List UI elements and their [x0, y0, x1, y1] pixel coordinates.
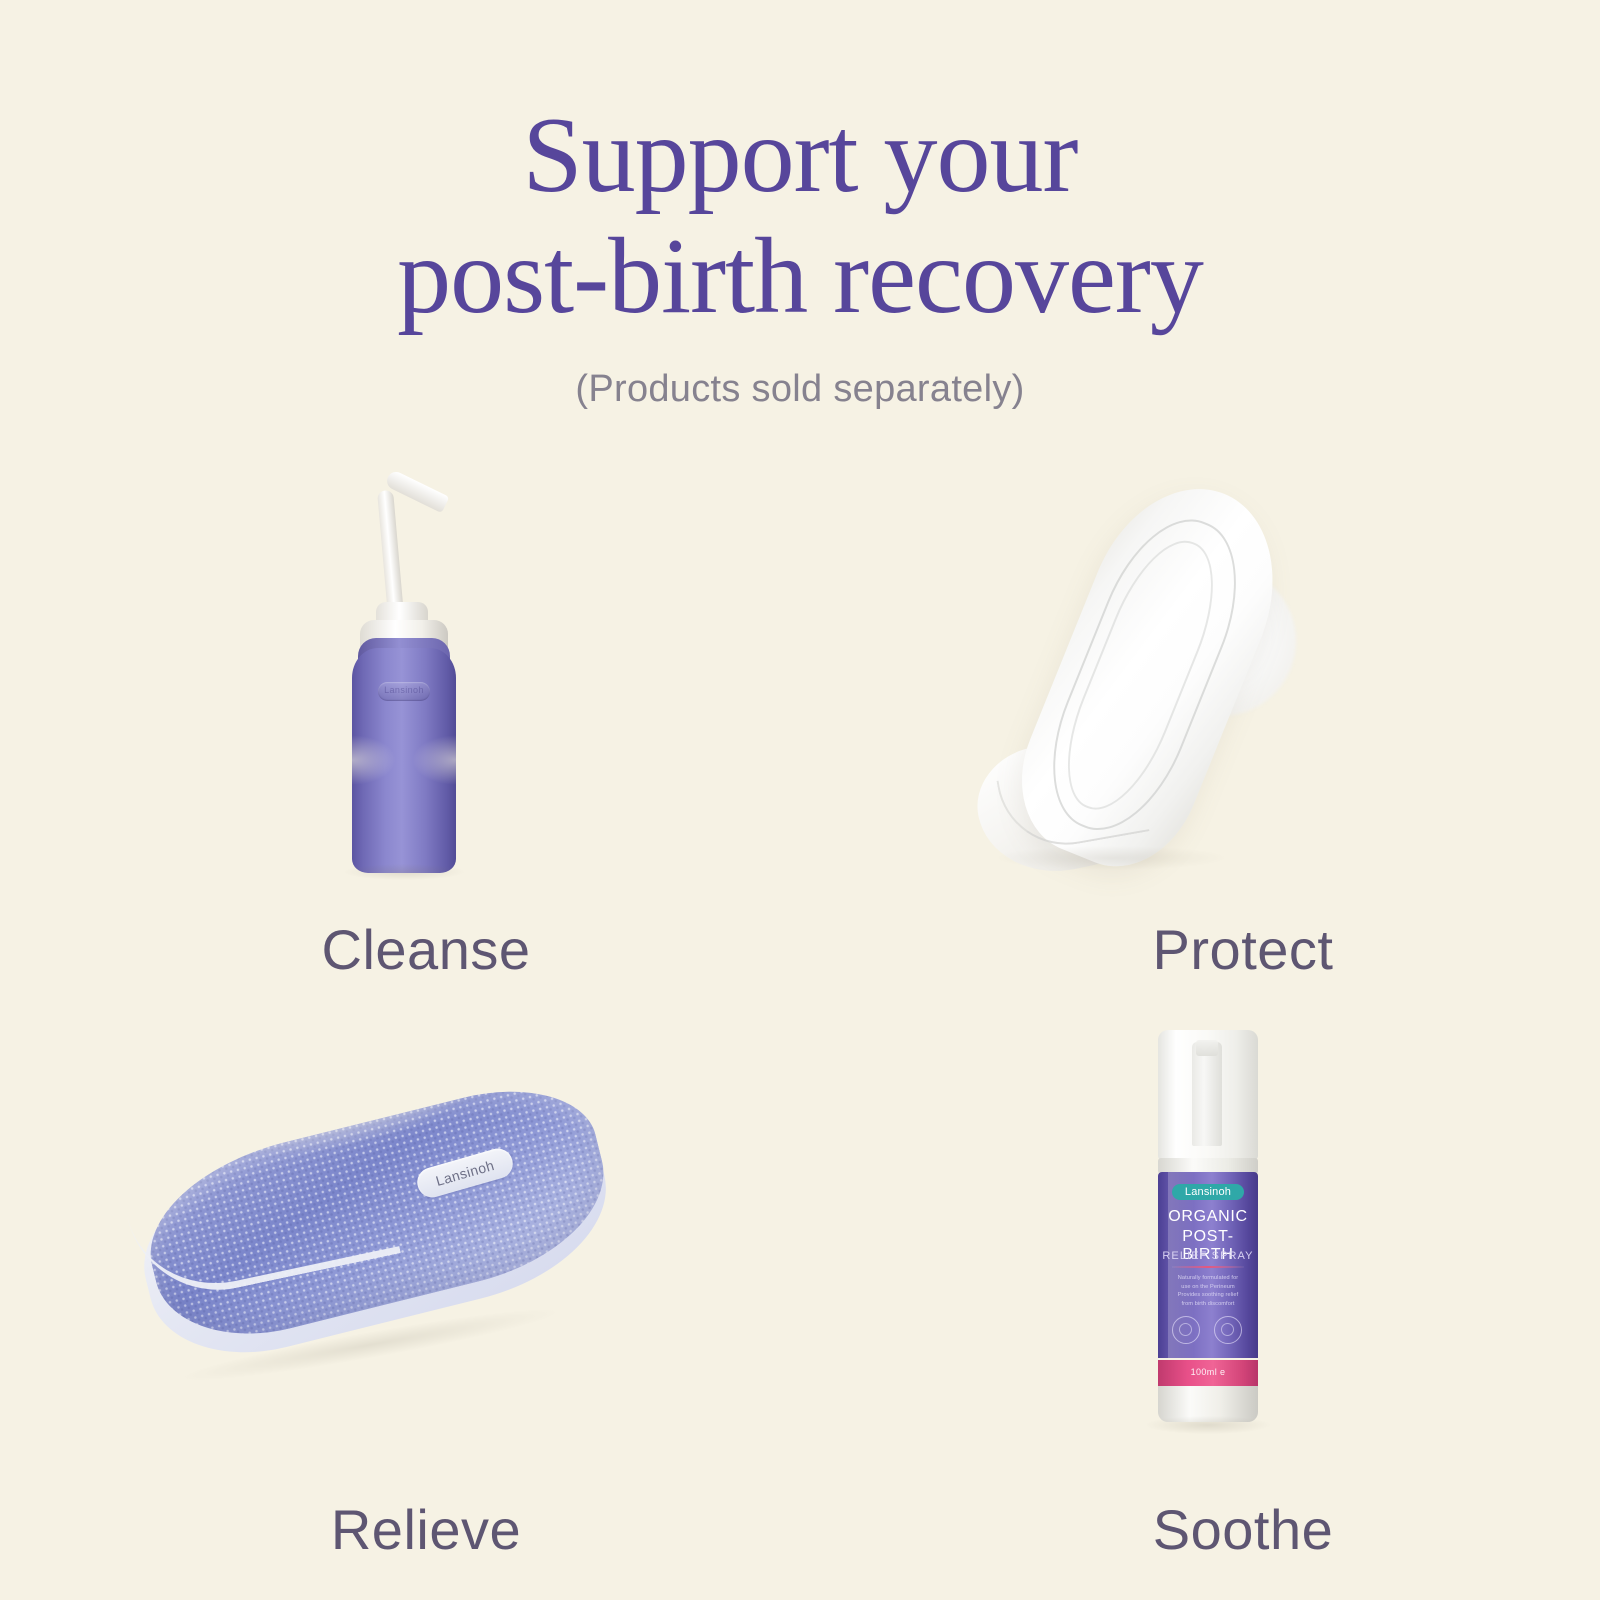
spray-label-line-1: ORGANIC — [1158, 1208, 1258, 1226]
headline-line-1: Support your — [60, 96, 1540, 217]
caption-cleanse: Cleanse — [0, 917, 800, 982]
page-title: Support your post-birth recovery — [0, 96, 1600, 338]
spray-volume-text: 100ml e — [1158, 1367, 1258, 1377]
cooling-pad-icon: Lansinoh — [120, 1080, 650, 1410]
cooling-pad-image: Lansinoh — [0, 1020, 800, 1480]
product-cell-relieve[interactable]: Lansinoh Relieve — [0, 1020, 800, 1600]
post-birth-recovery-poster: Support your post-birth recovery (Produc… — [0, 0, 1600, 1600]
peri-bottle-brand-text: Lansinoh — [378, 685, 430, 695]
product-cell-cleanse[interactable]: Lansinoh Cleanse — [0, 440, 800, 1020]
relief-spray-image: Lansinoh ORGANIC POST-BIRTH RELIEF SPRAY… — [800, 1020, 1600, 1480]
spray-pump-nozzle — [1192, 1042, 1222, 1146]
spray-desc-line-1: Naturally formulated for — [1164, 1274, 1252, 1283]
product-grid: Lansinoh Cleanse Protect — [0, 440, 1600, 1600]
spray-label-line-3: RELIEF SPRAY — [1158, 1250, 1258, 1262]
peri-bottle-embossed-logo: Lansinoh — [378, 682, 430, 701]
spray-label-divider — [1172, 1266, 1244, 1268]
maternity-pad-shadow — [996, 846, 1226, 870]
peri-bottle-waist-highlight — [352, 728, 456, 792]
spray-desc-line-2: use on the Perineum — [1164, 1283, 1252, 1292]
caption-soothe: Soothe — [800, 1497, 1600, 1562]
spray-bottle-shadow — [1146, 1416, 1270, 1434]
headline-line-2: post-birth recovery — [60, 217, 1540, 338]
recycle-certification-icon — [1214, 1316, 1242, 1344]
peri-bottle-shadow — [344, 864, 464, 880]
product-cell-soothe[interactable]: Lansinoh ORGANIC POST-BIRTH RELIEF SPRAY… — [800, 1020, 1600, 1600]
maternity-pad-icon — [950, 450, 1370, 880]
spray-desc-line-3: Provides soothing relief — [1164, 1291, 1252, 1300]
relief-spray-bottle-icon: Lansinoh ORGANIC POST-BIRTH RELIEF SPRAY… — [1106, 1020, 1306, 1470]
caption-relieve: Relieve — [0, 1497, 800, 1562]
product-cell-protect[interactable]: Protect — [800, 440, 1600, 1020]
caption-protect: Protect — [800, 917, 1600, 982]
organic-certification-icon — [1172, 1316, 1200, 1344]
poster-header: Support your post-birth recovery (Produc… — [0, 96, 1600, 411]
peri-bottle-image: Lansinoh — [0, 440, 800, 900]
spray-brand-badge: Lansinoh — [1172, 1184, 1244, 1200]
spray-nozzle-head — [1196, 1040, 1218, 1056]
spray-brand-text: Lansinoh — [1172, 1186, 1244, 1198]
peri-bottle-spout — [377, 490, 404, 617]
spray-label-description: Naturally formulated for use on the Peri… — [1164, 1274, 1252, 1309]
maternity-pad-image — [800, 440, 1600, 900]
spray-desc-line-4: from birth discomfort — [1164, 1300, 1252, 1309]
peri-bottle-icon: Lansinoh — [300, 460, 500, 880]
subtitle: (Products sold separately) — [0, 368, 1600, 411]
